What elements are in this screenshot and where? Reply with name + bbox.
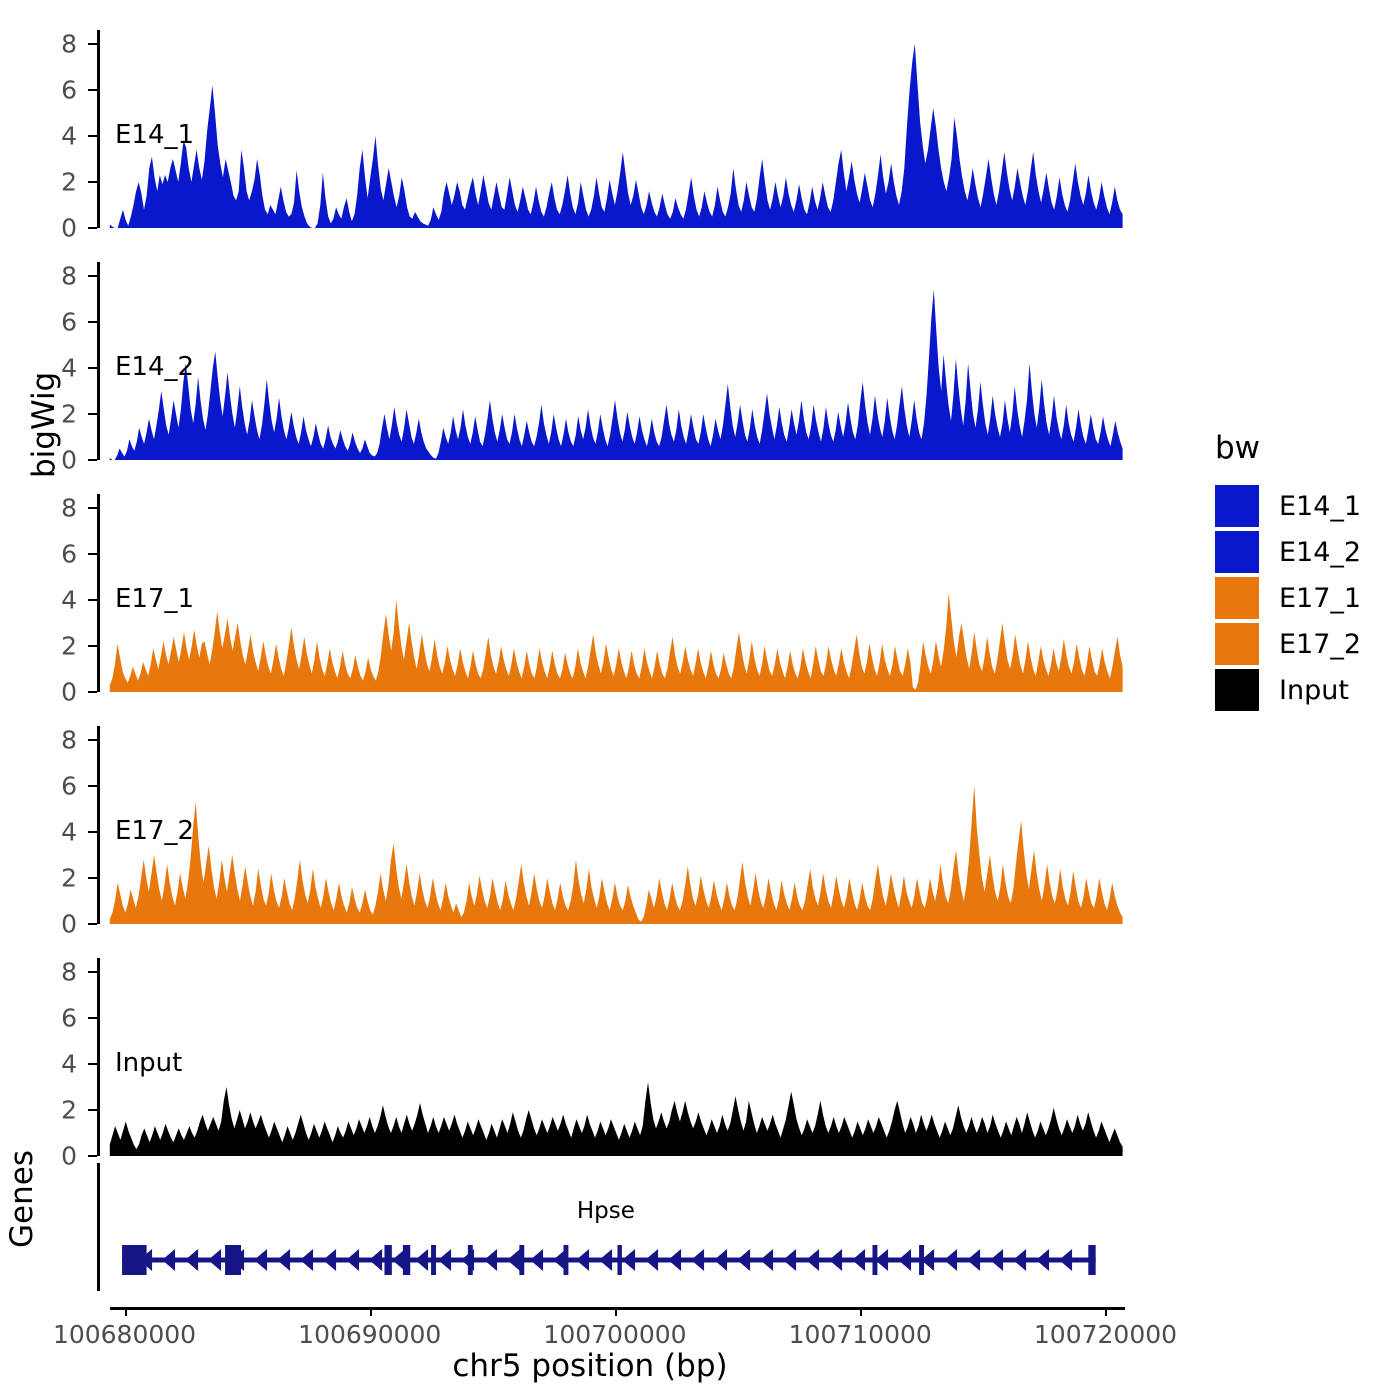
- y-tick-label: 4: [27, 353, 77, 382]
- legend-title: bw: [1215, 430, 1361, 466]
- y-tick: [88, 877, 97, 879]
- x-tick-label: 100690000: [298, 1320, 441, 1349]
- track-label: E14_1: [115, 120, 194, 150]
- track-panel-e17_1: 02468E17_1: [97, 494, 1130, 692]
- y-tick-label: 2: [27, 631, 77, 660]
- x-tick: [1105, 1307, 1107, 1316]
- legend-item-e14_2[interactable]: E14_2: [1215, 530, 1361, 574]
- y-tick: [88, 1155, 97, 1157]
- gene-track-panel: Hpse: [97, 1163, 1130, 1291]
- y-tick-label: 2: [27, 863, 77, 892]
- y-tick: [88, 321, 97, 323]
- y-tick-label: 6: [27, 539, 77, 568]
- y-tick: [88, 599, 97, 601]
- x-axis-line: [110, 1307, 1125, 1310]
- y-tick: [88, 923, 97, 925]
- y-tick: [88, 367, 97, 369]
- signal-area: [100, 262, 1130, 460]
- y-tick-label: 2: [27, 167, 77, 196]
- y-tick: [88, 507, 97, 509]
- track-panel-input: 02468Input: [97, 958, 1130, 1156]
- y-tick: [88, 739, 97, 741]
- legend-label: E17_1: [1279, 583, 1361, 614]
- y-tick: [88, 1017, 97, 1019]
- x-axis-title: chr5 position (bp): [0, 1348, 1180, 1384]
- y-tick: [88, 831, 97, 833]
- x-tick-label: 100720000: [1034, 1320, 1177, 1349]
- y-tick: [88, 691, 97, 693]
- y-tick: [88, 1109, 97, 1111]
- x-tick: [370, 1307, 372, 1316]
- legend-item-e17_1[interactable]: E17_1: [1215, 576, 1361, 620]
- y-tick: [88, 227, 97, 229]
- legend-label: Input: [1279, 675, 1349, 706]
- y-tick-label: 0: [27, 214, 77, 243]
- y-tick-label: 6: [27, 1003, 77, 1032]
- track-label: E17_2: [115, 816, 194, 846]
- y-tick-label: 0: [27, 910, 77, 939]
- y-tick-label: 8: [27, 957, 77, 986]
- y-tick-label: 4: [27, 121, 77, 150]
- legend: bw E14_1E14_2E17_1E17_2Input: [1215, 430, 1361, 714]
- y-tick: [88, 43, 97, 45]
- y-tick: [88, 135, 97, 137]
- y-tick-label: 6: [27, 75, 77, 104]
- legend-label: E17_2: [1279, 629, 1361, 660]
- track-panel-e14_1: 02468E14_1: [97, 30, 1130, 228]
- y-tick: [88, 181, 97, 183]
- y-tick-label: 4: [27, 1049, 77, 1078]
- y-tick: [88, 1063, 97, 1065]
- legend-item-input[interactable]: Input: [1215, 668, 1361, 712]
- legend-color-swatch: [1215, 669, 1259, 711]
- y-tick-label: 2: [27, 1095, 77, 1124]
- y-tick-label: 0: [27, 678, 77, 707]
- genes-axis-title: Genes: [4, 1188, 40, 1248]
- y-tick-label: 8: [27, 29, 77, 58]
- y-tick: [88, 89, 97, 91]
- legend-item-e14_1[interactable]: E14_1: [1215, 484, 1361, 528]
- track-panel-e17_2: 02468E17_2: [97, 726, 1130, 924]
- x-tick: [615, 1307, 617, 1316]
- y-tick: [88, 971, 97, 973]
- y-tick-label: 4: [27, 817, 77, 846]
- x-tick-label: 100700000: [543, 1320, 686, 1349]
- legend-items: E14_1E14_2E17_1E17_2Input: [1215, 484, 1361, 712]
- signal-area: [100, 726, 1130, 924]
- legend-label: E14_1: [1279, 491, 1361, 522]
- signal-area: [100, 958, 1130, 1156]
- genome-browser-figure: bigWig Genes 02468E14_102468E14_202468E1…: [0, 0, 1400, 1400]
- y-tick-label: 8: [27, 493, 77, 522]
- y-tick-label: 6: [27, 771, 77, 800]
- gene-model[interactable]: [100, 1163, 1130, 1291]
- y-tick-label: 8: [27, 261, 77, 290]
- x-tick-label: 100710000: [789, 1320, 932, 1349]
- y-tick: [88, 785, 97, 787]
- signal-area: [100, 30, 1130, 228]
- track-label: E17_1: [115, 584, 194, 614]
- signal-area: [100, 494, 1130, 692]
- track-panel-e14_2: 02468E14_2: [97, 262, 1130, 460]
- legend-color-swatch: [1215, 623, 1259, 665]
- y-tick: [88, 459, 97, 461]
- y-tick: [88, 553, 97, 555]
- legend-item-e17_2[interactable]: E17_2: [1215, 622, 1361, 666]
- x-tick: [125, 1307, 127, 1316]
- y-tick-label: 0: [27, 446, 77, 475]
- y-tick-label: 4: [27, 585, 77, 614]
- x-tick-label: 100680000: [53, 1320, 196, 1349]
- legend-color-swatch: [1215, 485, 1259, 527]
- y-tick-label: 6: [27, 307, 77, 336]
- track-label: Input: [115, 1048, 182, 1078]
- y-tick: [88, 413, 97, 415]
- y-tick-label: 0: [27, 1142, 77, 1171]
- legend-label: E14_2: [1279, 537, 1361, 568]
- y-tick-label: 2: [27, 399, 77, 428]
- legend-color-swatch: [1215, 531, 1259, 573]
- x-tick: [860, 1307, 862, 1316]
- gene-name-label: Hpse: [577, 1198, 635, 1224]
- y-tick: [88, 275, 97, 277]
- y-tick: [88, 645, 97, 647]
- track-label: E14_2: [115, 352, 194, 382]
- legend-color-swatch: [1215, 577, 1259, 619]
- y-tick-label: 8: [27, 725, 77, 754]
